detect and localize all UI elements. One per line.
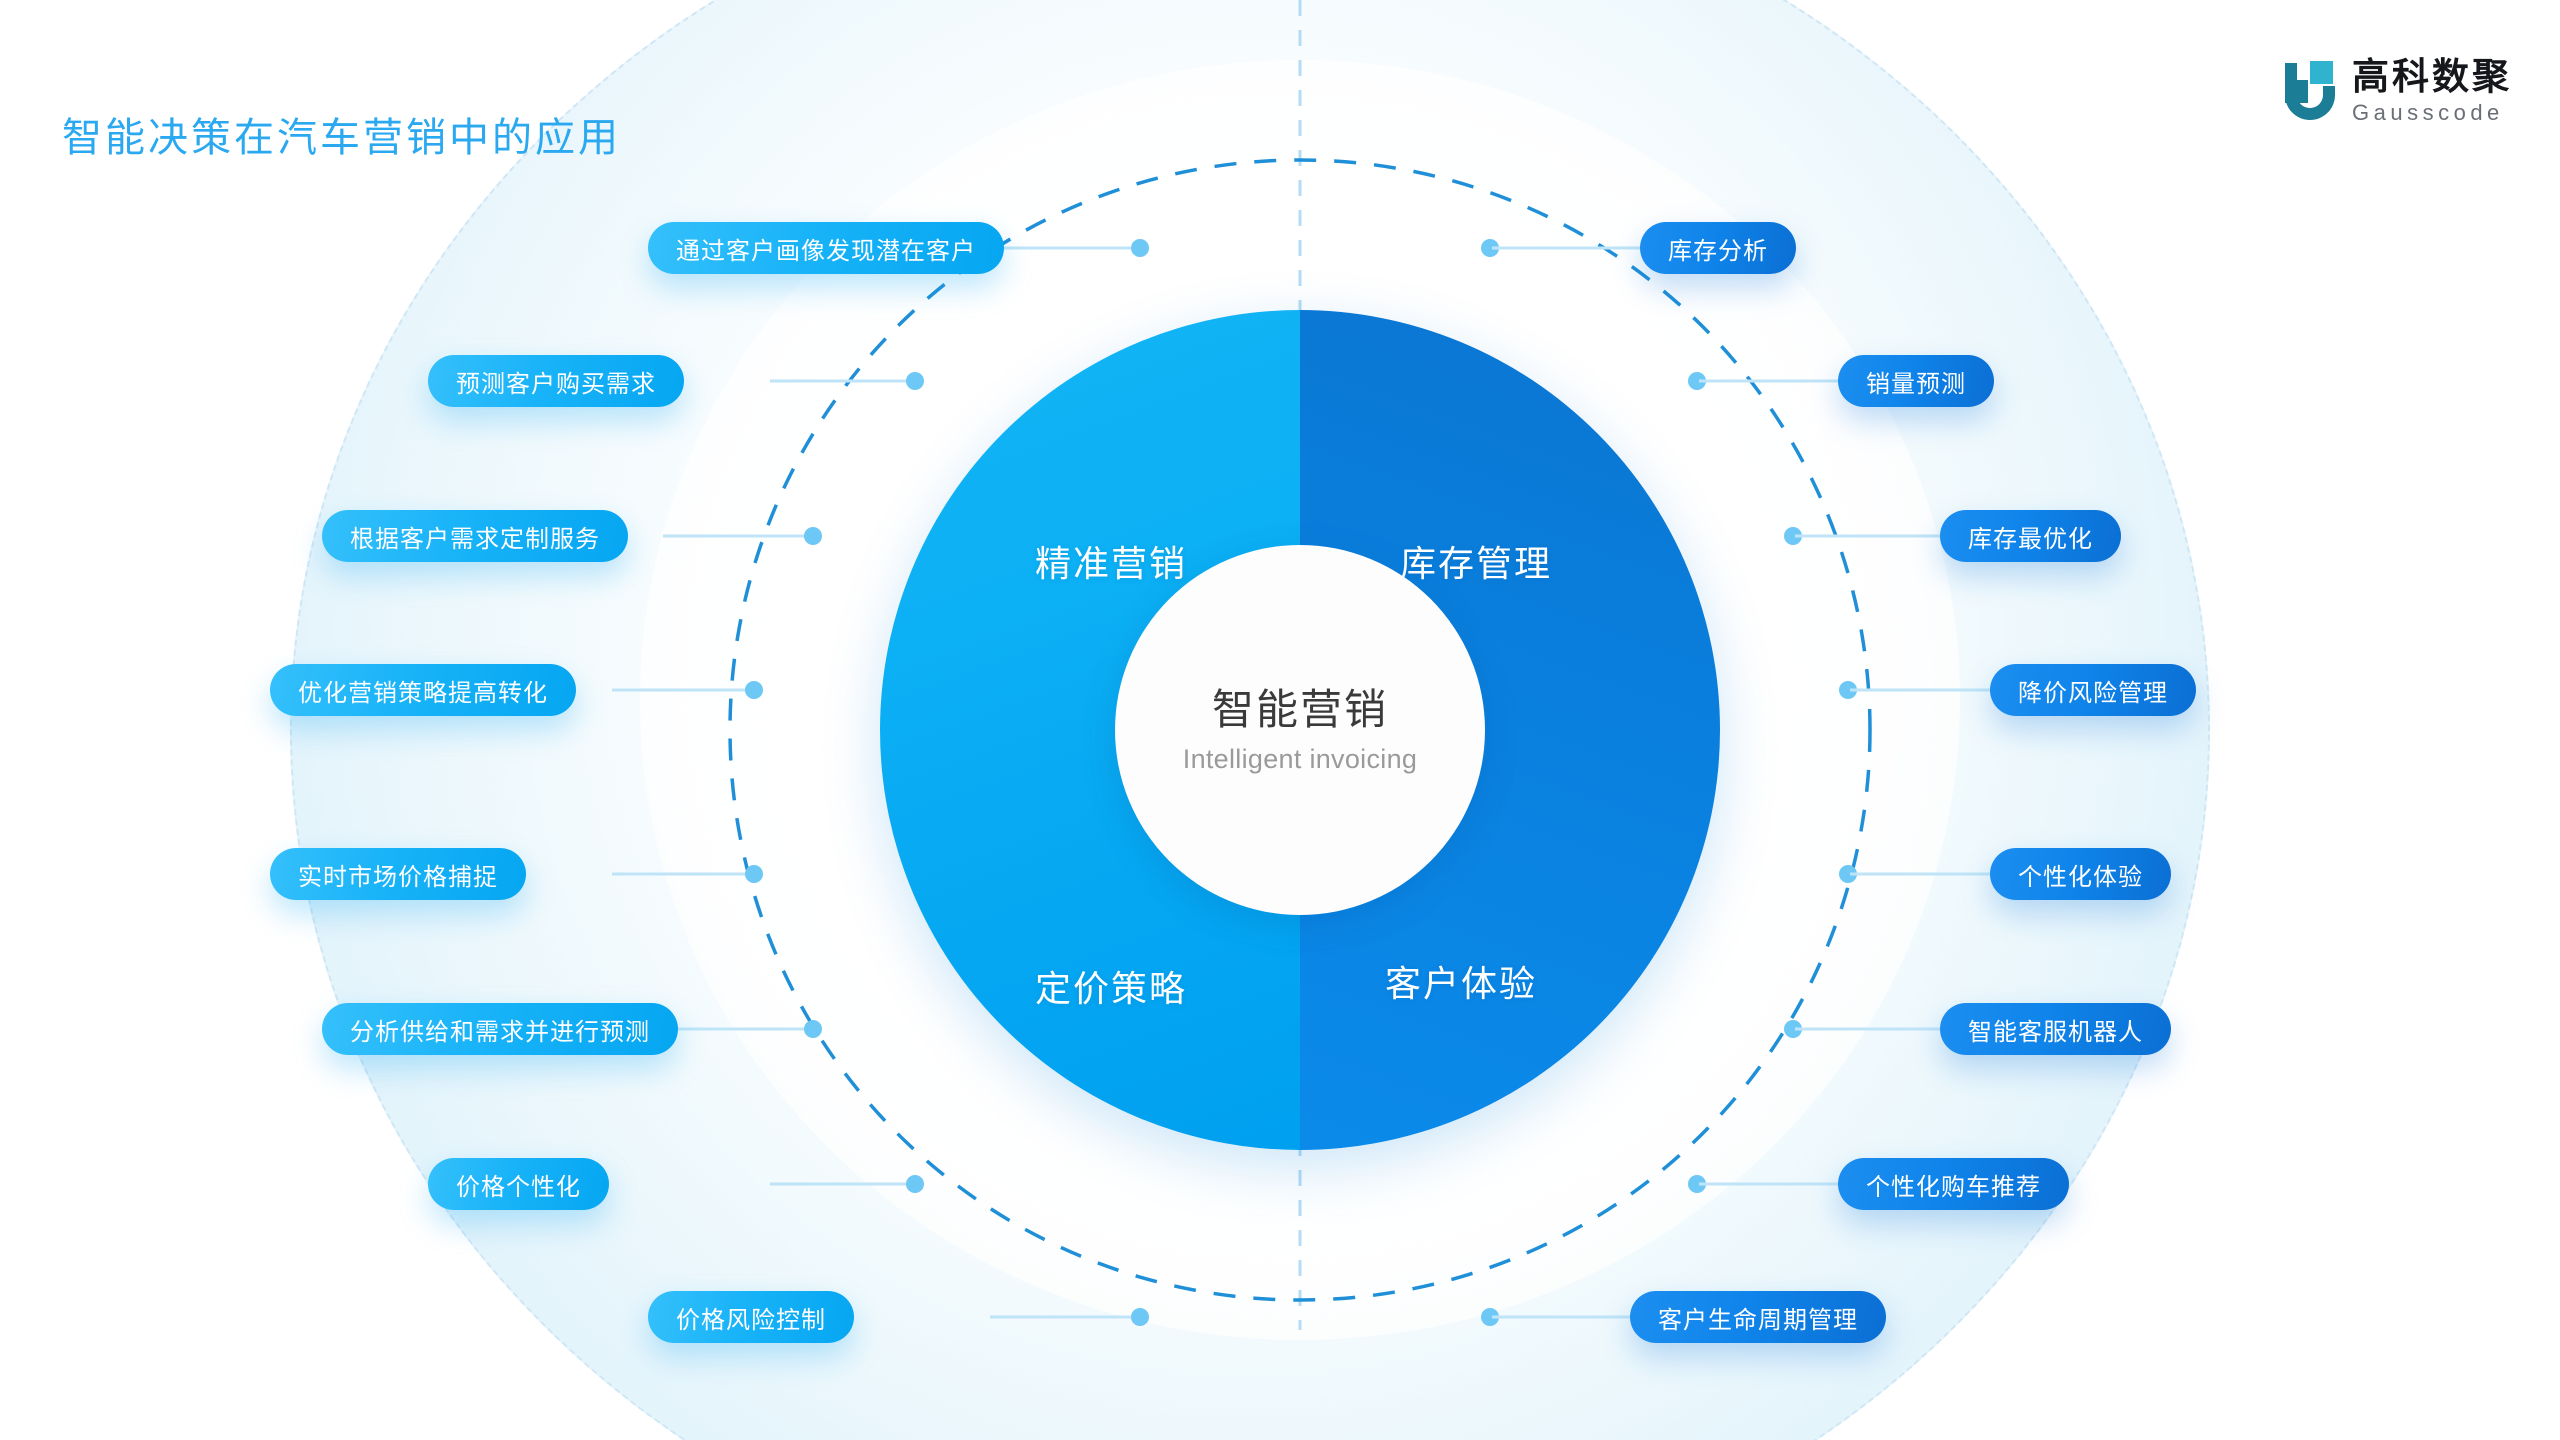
right-item-pill-3[interactable]: 库存最优化 <box>1940 510 2121 562</box>
center-title-en: Intelligent invoicing <box>1183 744 1417 775</box>
logo-brand-en: Gausscode <box>2352 102 2512 124</box>
left-item-pill-2[interactable]: 预测客户购买需求 <box>428 355 684 407</box>
right-item-pill-7[interactable]: 个性化购车推荐 <box>1838 1158 2069 1210</box>
left-item-pill-4[interactable]: 优化营销策略提高转化 <box>270 664 576 716</box>
left-item-pill-1[interactable]: 通过客户画像发现潜在客户 <box>648 222 1004 274</box>
left-item-pill-7[interactable]: 价格个性化 <box>428 1158 609 1210</box>
right-item-pill-2[interactable]: 销量预测 <box>1838 355 1994 407</box>
quadrant-label-top-left: 精准营销 <box>1035 535 1187 587</box>
logo-brand-cn: 高科数聚 <box>2352 58 2512 95</box>
left-item-pill-3[interactable]: 根据客户需求定制服务 <box>322 510 628 562</box>
brand-logo: 高科数聚 Gausscode <box>2280 58 2512 124</box>
infographic-canvas: 智能决策在汽车营销中的应用 高科数聚 Gausscode 精准营销 库存管理 定… <box>0 0 2560 1440</box>
right-item-pill-4[interactable]: 降价风险管理 <box>1990 664 2196 716</box>
left-item-pill-6[interactable]: 分析供给和需求并进行预测 <box>322 1003 678 1055</box>
left-item-pill-8[interactable]: 价格风险控制 <box>648 1291 854 1343</box>
center-hub: 智能营销 Intelligent invoicing <box>1115 545 1485 915</box>
right-item-pill-5[interactable]: 个性化体验 <box>1990 848 2171 900</box>
right-item-pill-1[interactable]: 库存分析 <box>1640 222 1796 274</box>
right-item-pill-6[interactable]: 智能客服机器人 <box>1940 1003 2171 1055</box>
center-title-cn: 智能营销 <box>1212 685 1388 735</box>
quadrant-label-bottom-left: 定价策略 <box>1035 960 1187 1012</box>
quadrant-label-top-right: 库存管理 <box>1400 535 1552 587</box>
left-item-pill-5[interactable]: 实时市场价格捕捉 <box>270 848 526 900</box>
page-title: 智能决策在汽车营销中的应用 <box>62 105 621 163</box>
quadrant-label-bottom-right: 客户体验 <box>1385 955 1537 1007</box>
gausscode-u-mark-icon <box>2280 61 2336 121</box>
right-item-pill-8[interactable]: 客户生命周期管理 <box>1630 1291 1886 1343</box>
